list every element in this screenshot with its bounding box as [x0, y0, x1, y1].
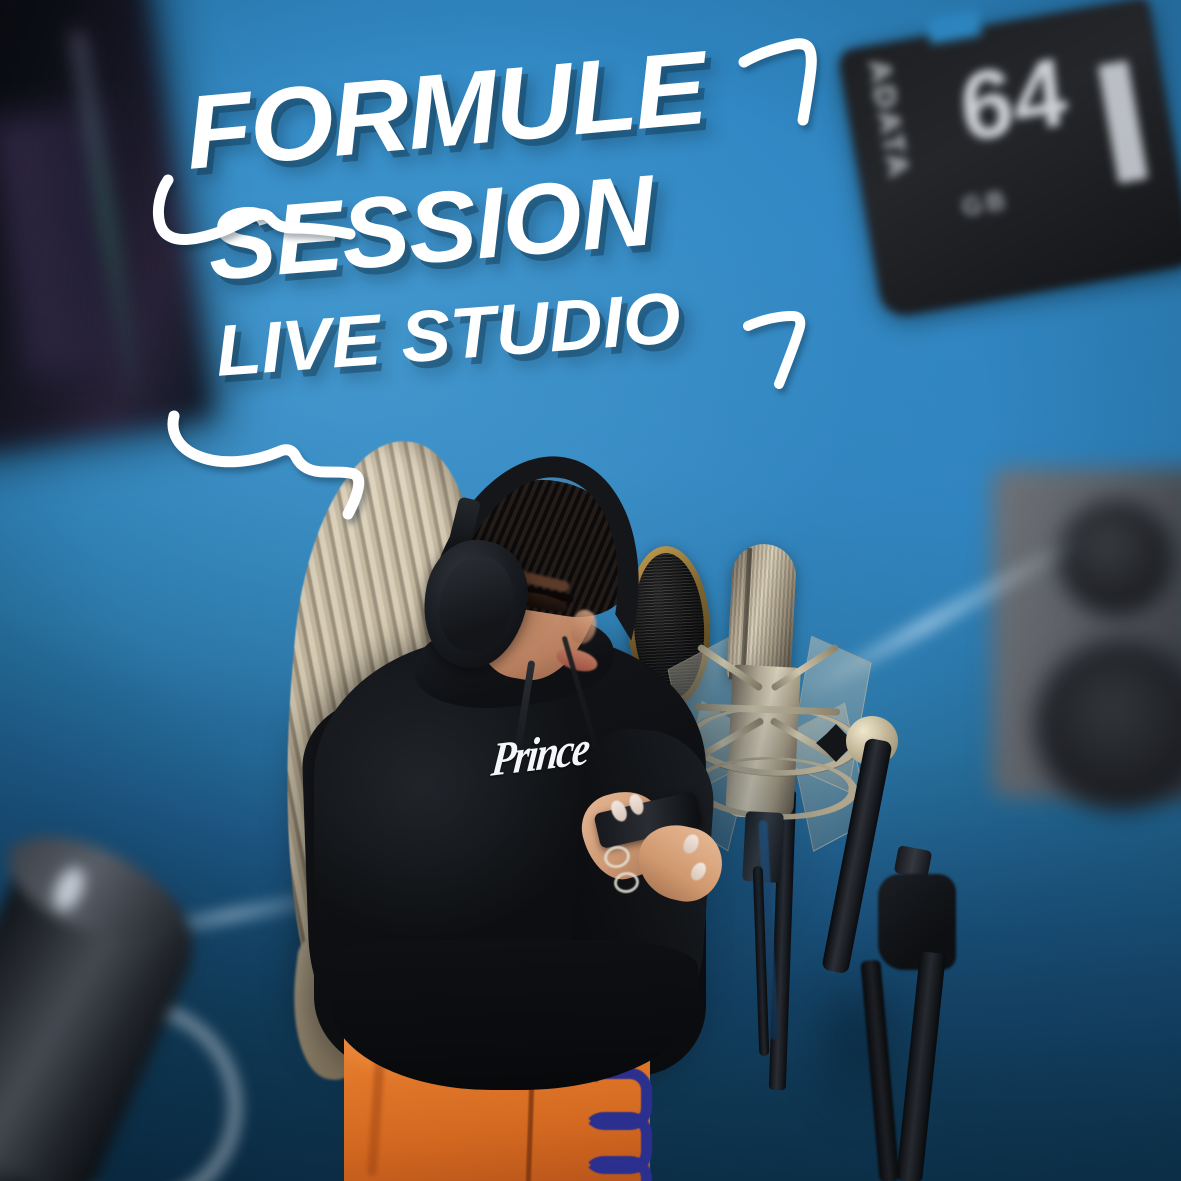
- poster-canvas: ADATA 64 GB: [0, 0, 1181, 1181]
- title-block: FORMULE SESSION LIVE STUDIO: [0, 0, 1181, 520]
- squiggle-bottom-left-icon: [168, 398, 388, 518]
- corner-bracket-bottom-right-icon: [744, 312, 824, 412]
- corner-bracket-top-right-icon: [742, 36, 832, 146]
- title-line-live-studio: LIVE STUDIO: [213, 282, 683, 388]
